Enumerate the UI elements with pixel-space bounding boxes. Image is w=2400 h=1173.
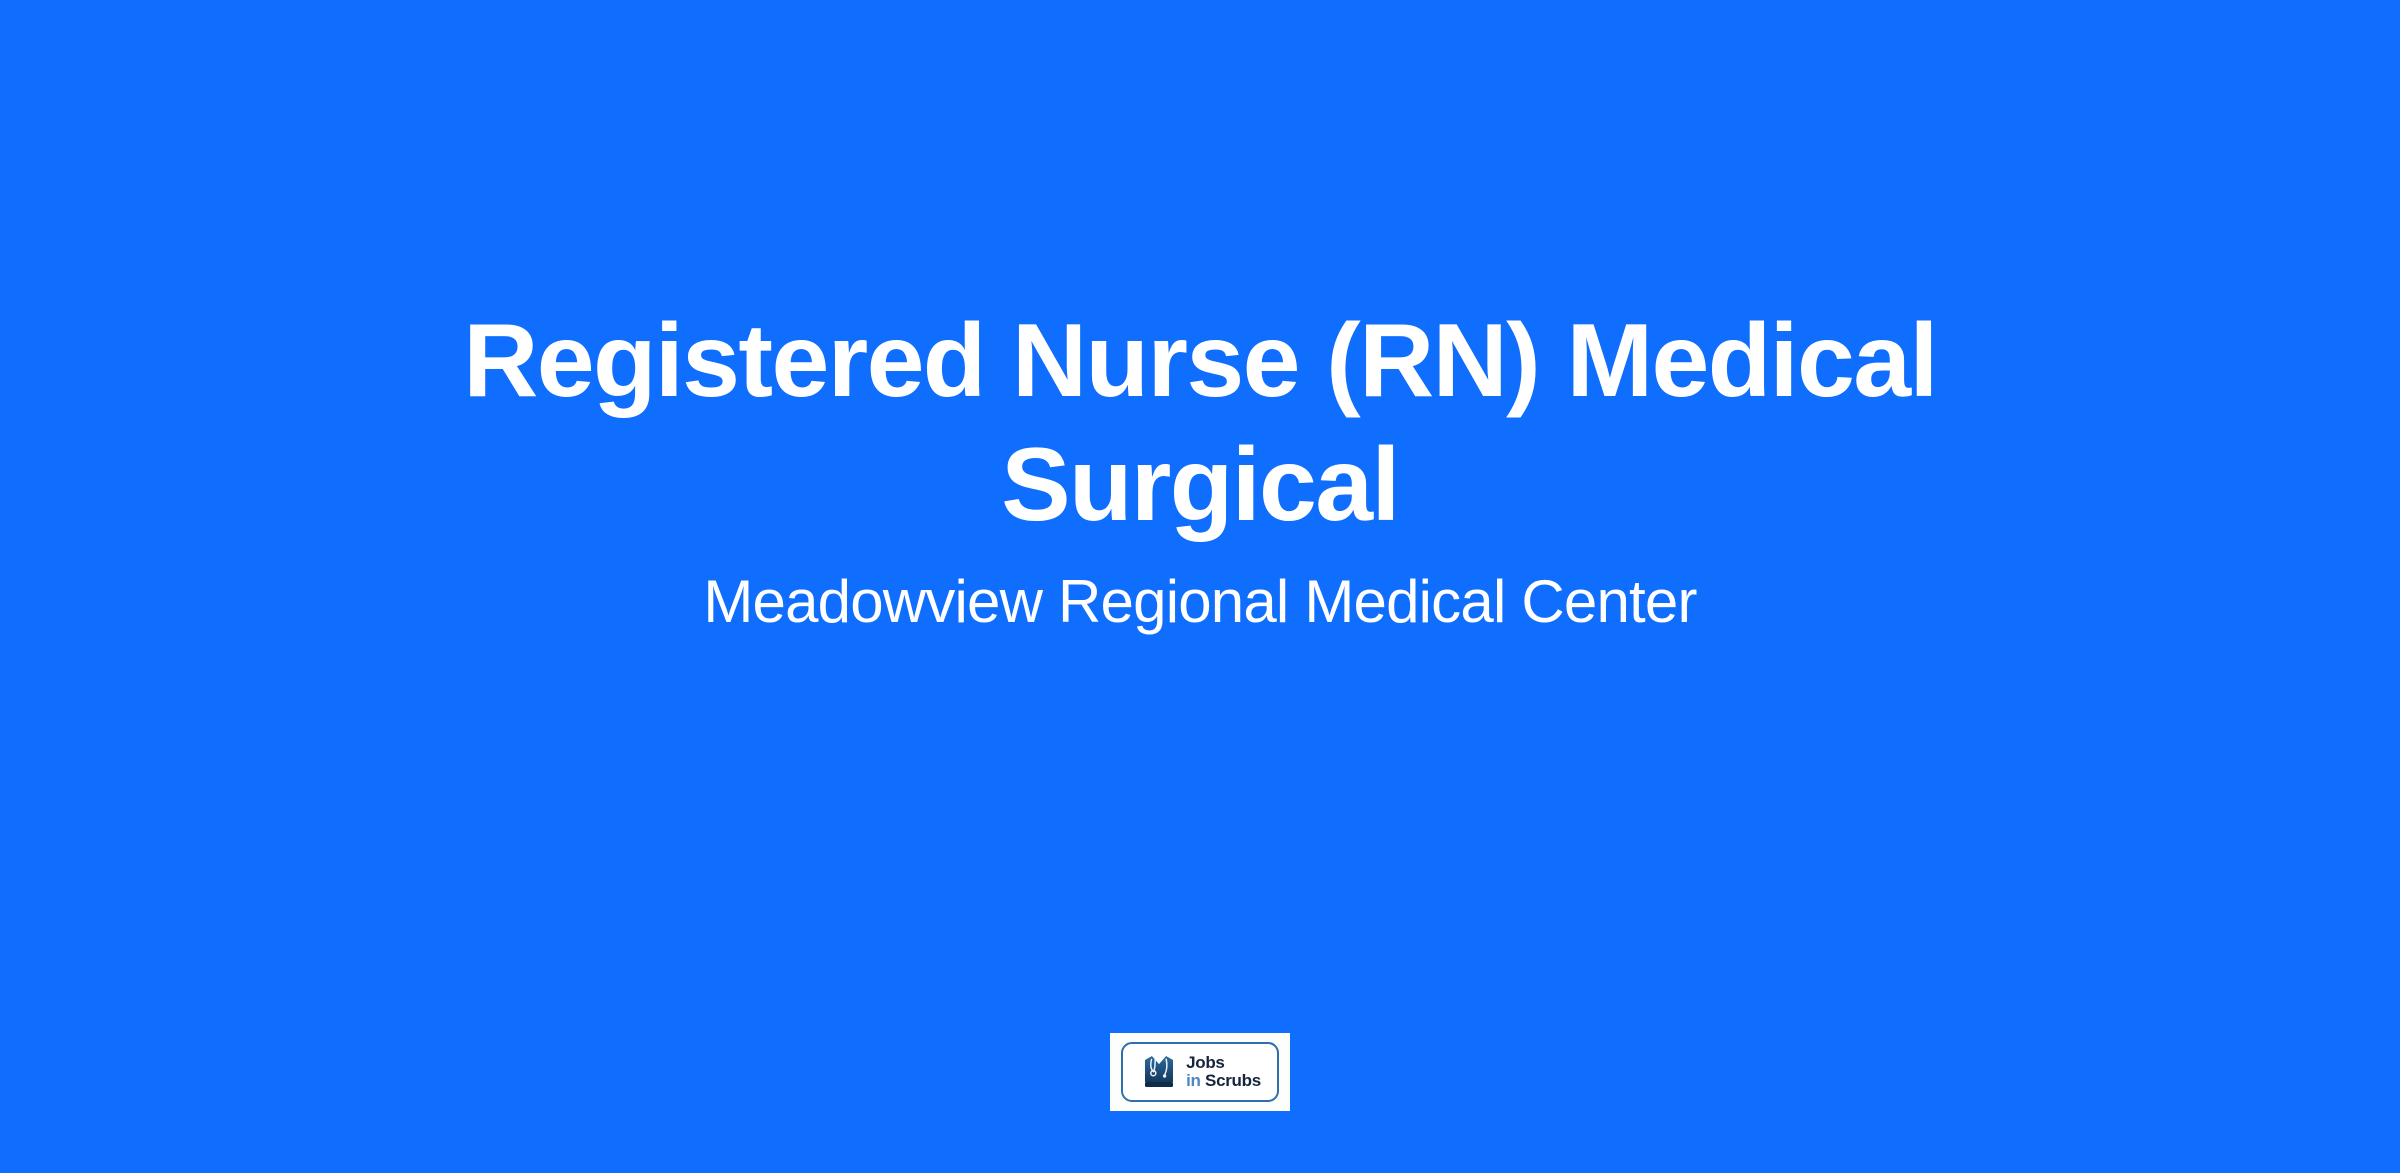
logo-line-two-main: Scrubs	[1205, 1071, 1261, 1090]
headline-block: Registered Nurse (RN) Medical Surgical M…	[0, 300, 2400, 639]
logo-line-one: Jobs	[1186, 1054, 1261, 1072]
job-posting-card: Registered Nurse (RN) Medical Surgical M…	[0, 0, 2400, 1173]
logo-line-two: in Scrubs	[1186, 1072, 1261, 1090]
logo-frame: Jobs in Scrubs	[1121, 1042, 1279, 1102]
page-title: Registered Nurse (RN) Medical Surgical	[340, 300, 2060, 548]
logo-wordmark: Jobs in Scrubs	[1186, 1054, 1261, 1090]
organization-name: Meadowview Regional Medical Center	[250, 564, 2150, 639]
scrubs-stethoscope-icon	[1139, 1052, 1179, 1092]
brand-logo-badge[interactable]: Jobs in Scrubs	[1110, 1033, 1290, 1111]
logo-line-two-prefix: in	[1186, 1071, 1201, 1090]
